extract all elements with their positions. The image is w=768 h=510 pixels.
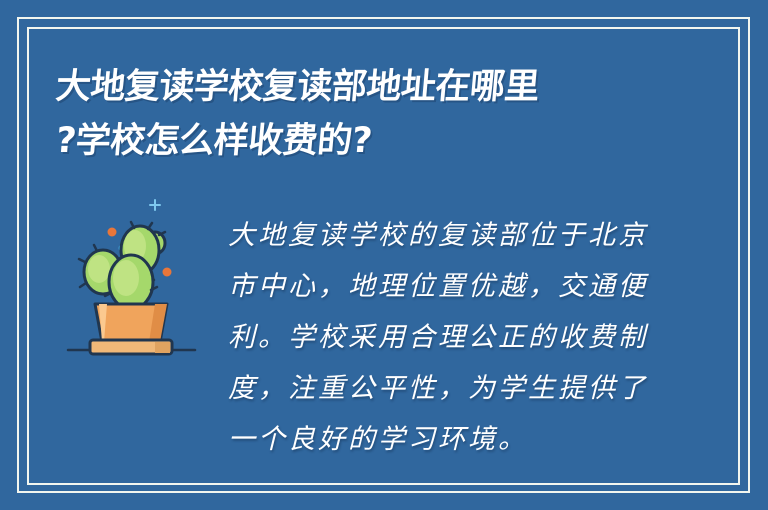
potted-cactus-illustration: [55, 190, 215, 365]
body-text-line-2: 市中心，地理位置优越，交通便: [228, 261, 668, 312]
page-title-line-2: ?学校怎么样收费的?: [54, 114, 679, 168]
blue-sparkle-icon: [150, 200, 160, 210]
orange-dot-right-icon: [163, 268, 172, 277]
cactus-body-highlight: [113, 260, 139, 296]
article-card: 大地复读学校复读部地址在哪里 ?学校怎么样收费的?: [0, 0, 768, 510]
body-text-line-4: 度，注重公平性，为学生提供了: [228, 363, 668, 414]
page-title: 大地复读学校复读部地址在哪里 ?学校怎么样收费的?: [56, 60, 676, 168]
body-text-line-1: 大地复读学校的复读部位于北京: [228, 210, 668, 261]
cactus-arm-left-highlight: [88, 255, 110, 283]
body-text: 大地复读学校的复读部位于北京 市中心，地理位置优越，交通便 利。学校采用合理公正…: [228, 210, 668, 465]
orange-dot-icon: [108, 228, 117, 237]
page-title-line-1: 大地复读学校复读部地址在哪里: [54, 60, 679, 114]
body-text-line-3: 利。学校采用合理公正的收费制: [228, 312, 668, 363]
flower-pot-base-shade: [155, 342, 170, 353]
body-text-line-5: 一个良好的学习环境。: [228, 414, 668, 465]
